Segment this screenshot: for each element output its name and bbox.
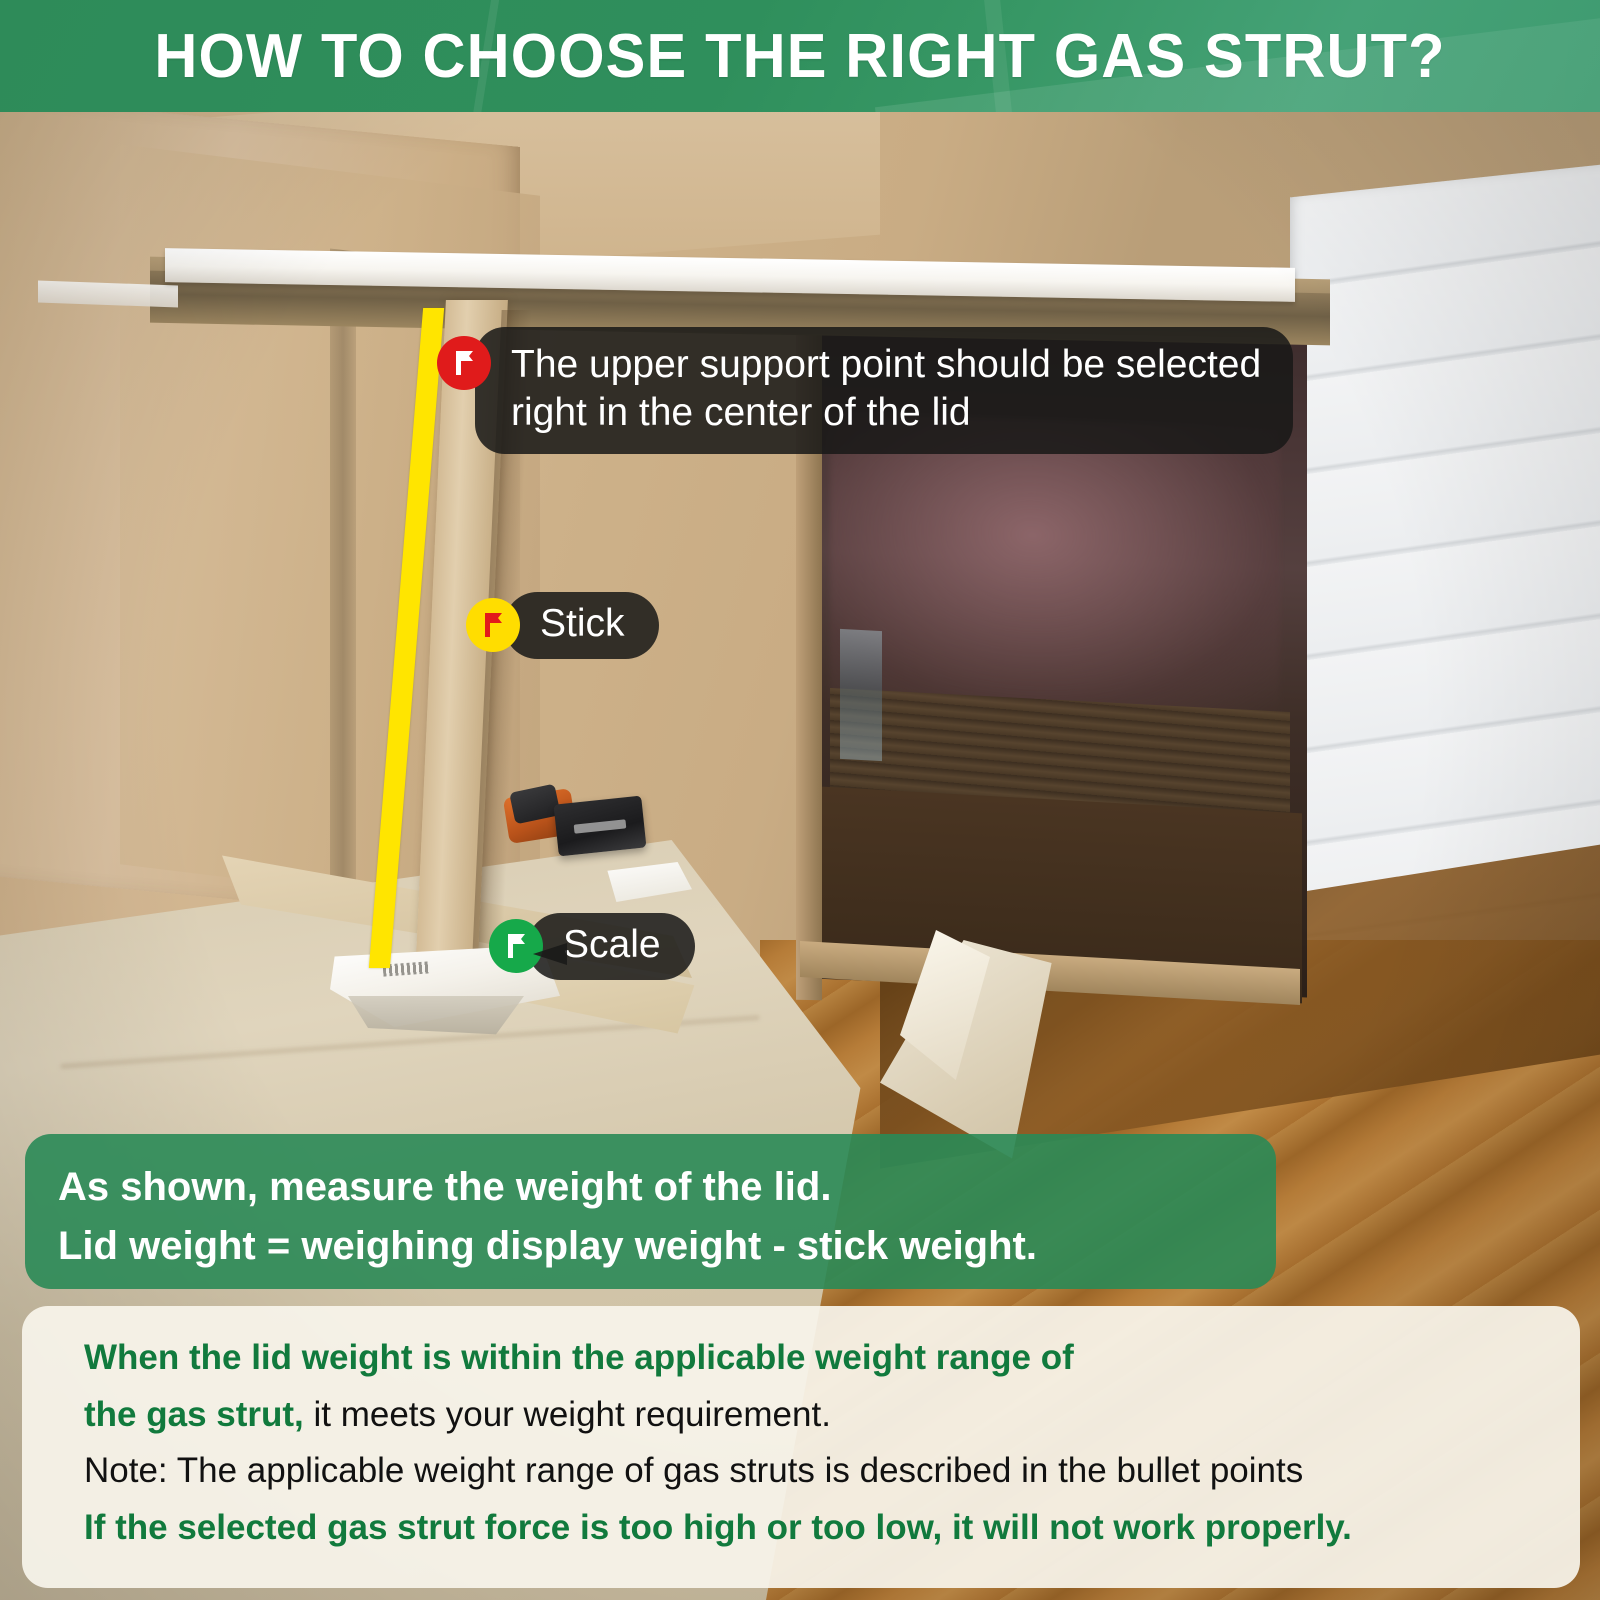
flag-badge-yellow	[466, 598, 520, 652]
callout-scale: Scale	[489, 913, 695, 980]
callout-stick: Stick	[466, 592, 659, 659]
note-line4-green: If the selected gas strut force is too h…	[84, 1508, 1352, 1547]
callout-pointer	[533, 943, 567, 965]
note-line-2: the gas strut, it meets your weight requ…	[84, 1387, 1580, 1444]
callout-stick-label: Stick	[504, 592, 659, 659]
green-box-line1: As shown, measure the weight of the lid.	[58, 1158, 1276, 1217]
flag-badge-red	[437, 336, 491, 390]
title-banner: HOW TO CHOOSE THE RIGHT GAS STRUT?	[0, 0, 1600, 112]
green-summary-box: As shown, measure the weight of the lid.…	[25, 1134, 1276, 1289]
note-line1-green: When the lid weight is within the applic…	[84, 1338, 1074, 1377]
note-line2-plain: it meets your weight requirement.	[304, 1395, 831, 1434]
page-title: HOW TO CHOOSE THE RIGHT GAS STRUT?	[32, 0, 1568, 112]
infographic-root: HOW TO CHOOSE THE RIGHT GAS STRUT? The u…	[0, 0, 1600, 1600]
callout-upper-line2: right in the center of the lid	[511, 389, 1261, 437]
attic-insulation	[830, 412, 1280, 718]
note-panel: When the lid weight is within the applic…	[22, 1306, 1580, 1588]
callout-upper-text: The upper support point should be select…	[475, 327, 1293, 454]
note-line-3: Note: The applicable weight range of gas…	[84, 1443, 1580, 1500]
attic-storage-box	[840, 629, 882, 761]
note-line2-green: the gas strut,	[84, 1395, 304, 1434]
plywood-edge-shadow	[330, 249, 356, 952]
note-line-4: If the selected gas strut force is too h…	[84, 1500, 1580, 1557]
green-box-line2: Lid weight = weighing display weight - s…	[58, 1217, 1276, 1276]
callout-upper-support-point: The upper support point should be select…	[437, 327, 1293, 454]
flag-icon	[501, 931, 531, 961]
note-line-1: When the lid weight is within the applic…	[84, 1330, 1580, 1387]
callout-upper-line1: The upper support point should be select…	[511, 341, 1261, 389]
flag-badge-green	[489, 919, 543, 973]
flag-icon	[478, 610, 508, 640]
flag-icon	[449, 348, 479, 378]
note-line3-plain: Note: The applicable weight range of gas…	[84, 1451, 1303, 1490]
